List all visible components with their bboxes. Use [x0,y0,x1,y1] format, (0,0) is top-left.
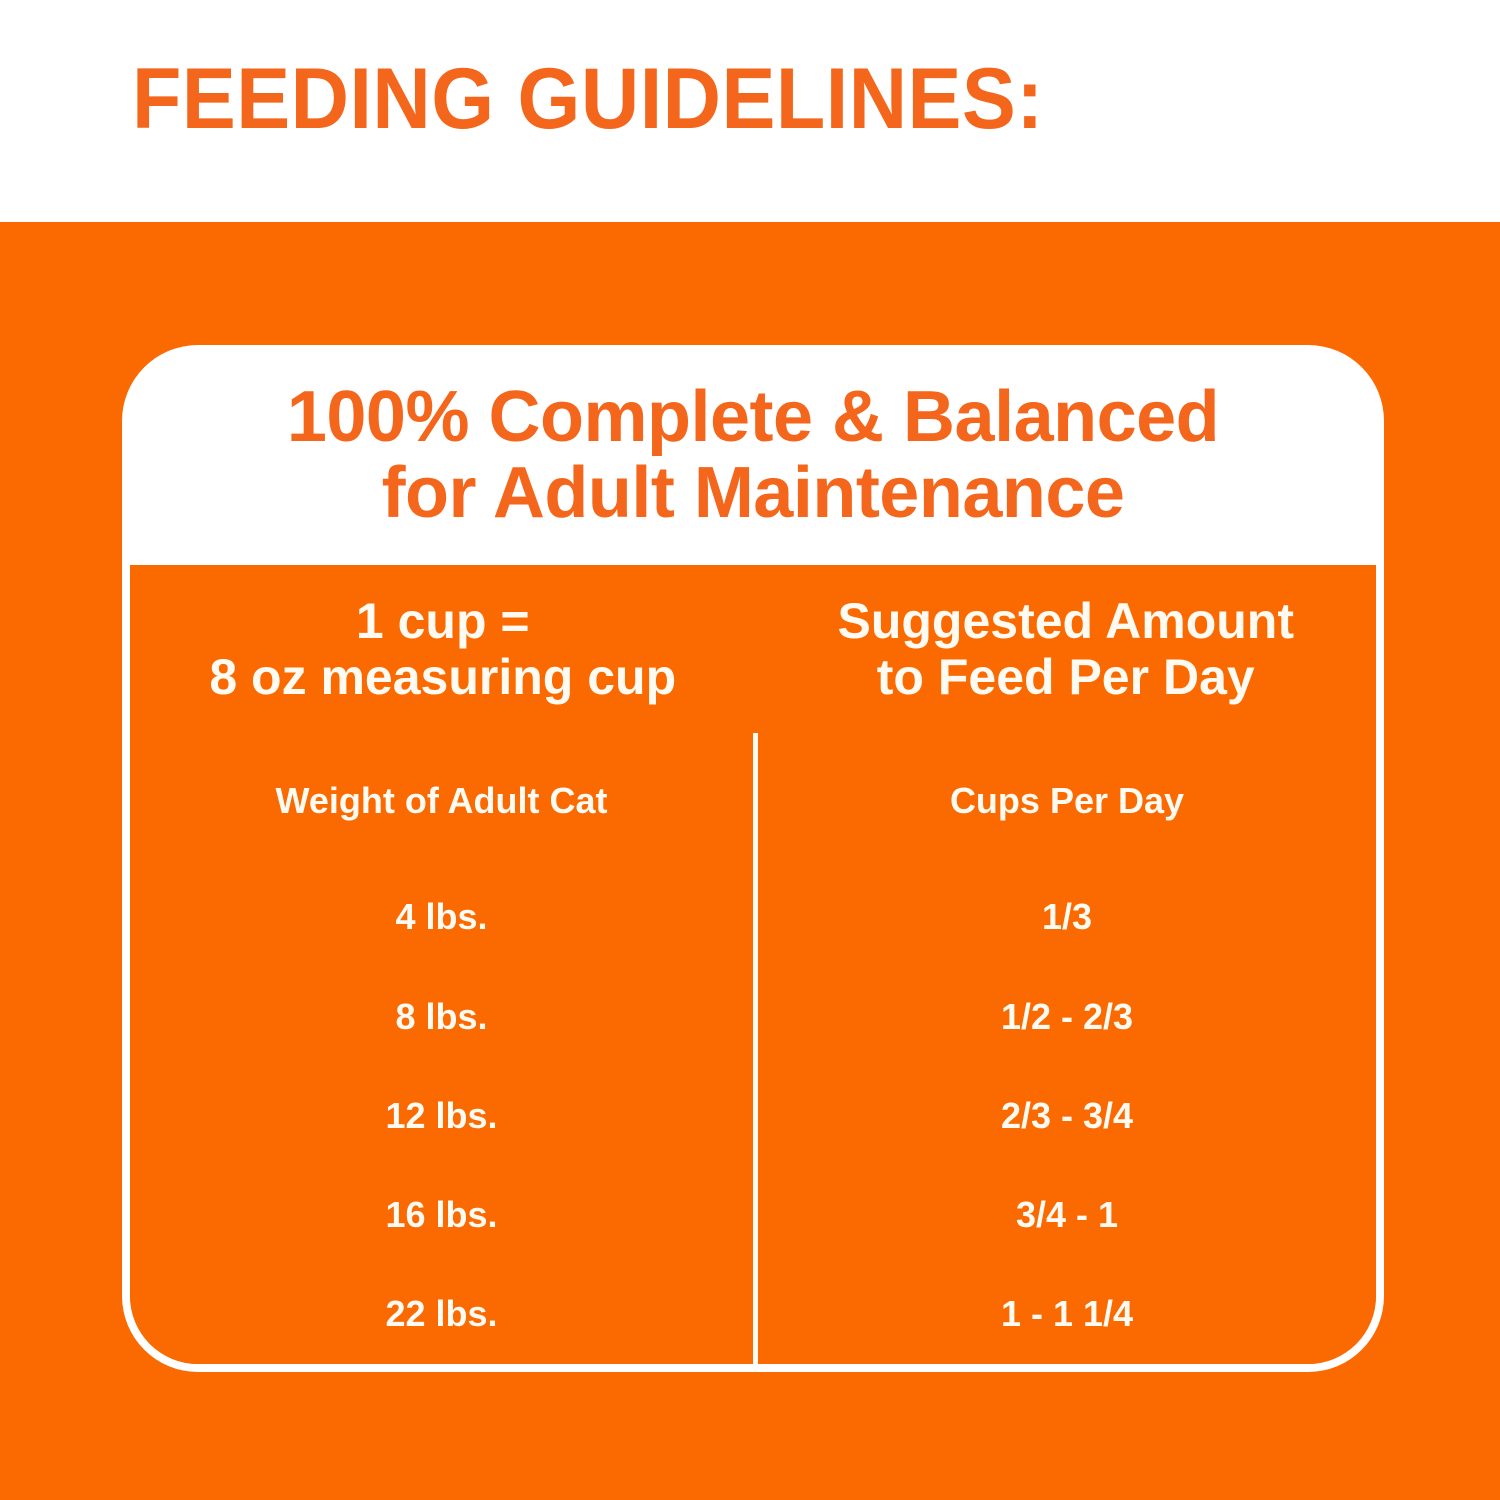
header-suggested-line-1: Suggested Amount [755,593,1376,649]
cell-cups: 1/2 - 2/3 [755,967,1376,1066]
header-measure-line-1: 1 cup = [130,593,755,649]
card-heading: 100% Complete & Balanced for Adult Maint… [122,379,1384,531]
cell-weight: 12 lbs. [130,1066,755,1165]
feeding-card: 100% Complete & Balanced for Adult Maint… [122,345,1384,1372]
title-strip: FEEDING GUIDELINES: [0,0,1500,222]
column-header-weight: Weight of Adult Cat [130,733,755,867]
header-measure-line-2: 8 oz measuring cup [130,649,755,705]
cell-cups: 1 - 1 1/4 [755,1265,1376,1364]
cell-weight: 4 lbs. [130,868,755,967]
page-title: FEEDING GUIDELINES: [132,56,1044,142]
table-header-row: 1 cup = 8 oz measuring cup Suggested Amo… [130,565,1376,733]
feeding-table-wrapper: 1 cup = 8 oz measuring cup Suggested Amo… [130,565,1376,1364]
cell-cups: 2/3 - 3/4 [755,1066,1376,1165]
cell-weight: 16 lbs. [130,1165,755,1264]
header-cell-suggested: Suggested Amount to Feed Per Day [755,565,1376,733]
header-suggested-line-2: to Feed Per Day [755,649,1376,705]
table-row: 12 lbs. 2/3 - 3/4 [130,1066,1376,1165]
table-row: 8 lbs. 1/2 - 2/3 [130,967,1376,1066]
table-subheader-row: Weight of Adult Cat Cups Per Day [130,733,1376,867]
header-cell-measure: 1 cup = 8 oz measuring cup [130,565,755,733]
cell-cups: 1/3 [755,868,1376,967]
card-heading-line-2: for Adult Maintenance [122,455,1384,531]
table-row: 22 lbs. 1 - 1 1/4 [130,1265,1376,1364]
feeding-guidelines-page: FEEDING GUIDELINES: 100% Complete & Bala… [0,0,1500,1500]
table-row: 4 lbs. 1/3 [130,868,1376,967]
cell-weight: 22 lbs. [130,1265,755,1364]
table-row: 16 lbs. 3/4 - 1 [130,1165,1376,1264]
card-heading-line-1: 100% Complete & Balanced [122,379,1384,455]
cell-weight: 8 lbs. [130,967,755,1066]
feeding-table: 1 cup = 8 oz measuring cup Suggested Amo… [130,565,1376,1364]
cell-cups: 3/4 - 1 [755,1165,1376,1264]
column-header-cups: Cups Per Day [755,733,1376,867]
